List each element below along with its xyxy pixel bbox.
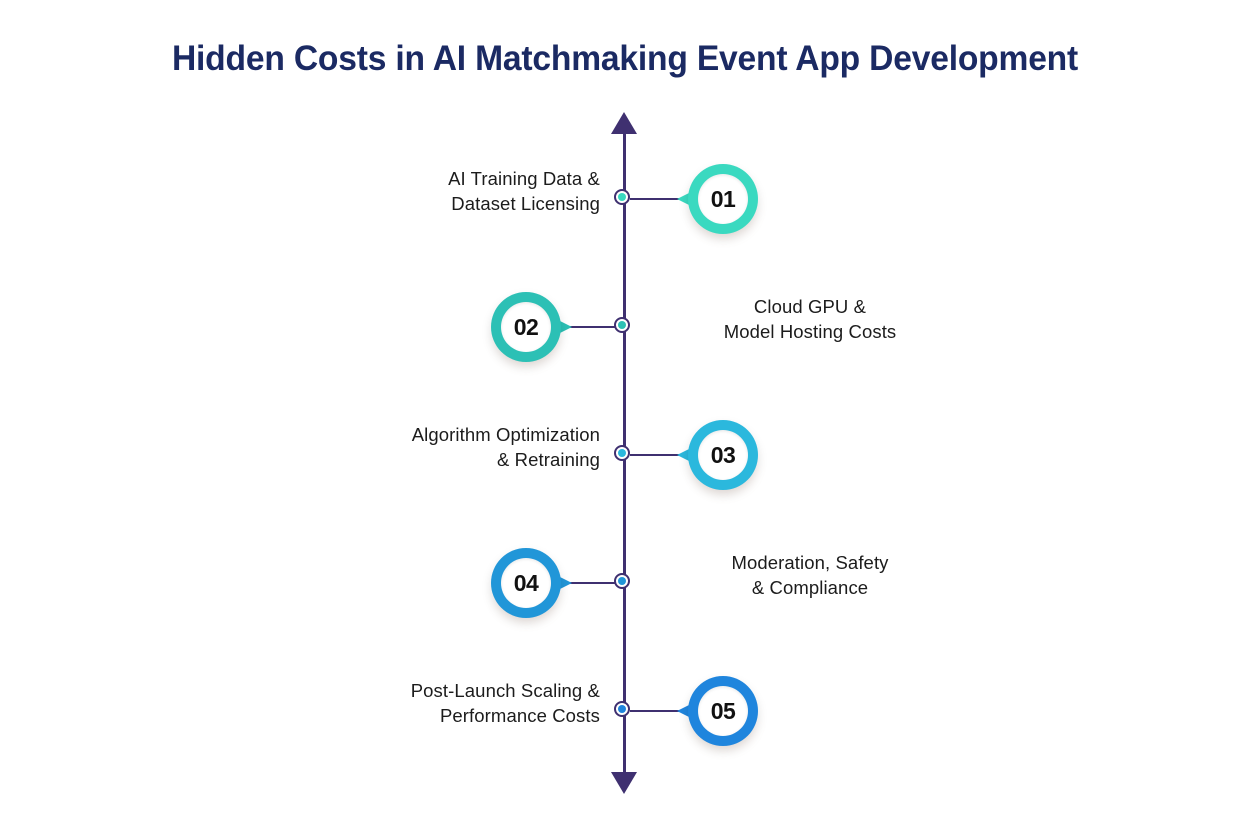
badge-ring: 04 <box>491 548 561 618</box>
badge-ring: 01 <box>688 164 758 234</box>
timeline-node-dot <box>614 317 630 333</box>
timeline-item-label: Cloud GPU & Model Hosting Costs <box>645 295 975 345</box>
timeline-item-label: Moderation, Safety & Compliance <box>645 551 975 601</box>
badge-number: 03 <box>711 444 736 467</box>
badge-inner-circle: 01 <box>698 174 748 224</box>
badge-number: 05 <box>711 700 736 723</box>
infographic-canvas: Hidden Costs in AI Matchmaking Event App… <box>0 0 1250 833</box>
timeline-node-dot <box>614 189 630 205</box>
timeline-badge-03[interactable]: 03 <box>680 412 766 498</box>
badge-inner-circle: 03 <box>698 430 748 480</box>
timeline-node-dot-core <box>618 321 626 329</box>
timeline-badge-04[interactable]: 04 <box>483 540 569 626</box>
badge-ring: 03 <box>688 420 758 490</box>
timeline-badge-02[interactable]: 02 <box>483 284 569 370</box>
badge-ring: 02 <box>491 292 561 362</box>
timeline-node-dot <box>614 573 630 589</box>
badge-inner-circle: 05 <box>698 686 748 736</box>
timeline-node-dot-core <box>618 193 626 201</box>
timeline-arrow-down-icon <box>611 772 637 794</box>
timeline-item-label: Post-Launch Scaling & Performance Costs <box>411 679 600 729</box>
page-title: Hidden Costs in AI Matchmaking Event App… <box>25 38 1225 80</box>
timeline-item-label: Algorithm Optimization & Retraining <box>412 423 600 473</box>
timeline-node-dot-core <box>618 705 626 713</box>
badge-number: 01 <box>711 188 736 211</box>
timeline-badge-01[interactable]: 01 <box>680 156 766 242</box>
badge-number: 04 <box>514 572 539 595</box>
timeline-node-dot-core <box>618 449 626 457</box>
badge-number: 02 <box>514 316 539 339</box>
badge-inner-circle: 04 <box>501 558 551 608</box>
timeline-arrow-up-icon <box>611 112 637 134</box>
badge-ring: 05 <box>688 676 758 746</box>
timeline-node-dot <box>614 445 630 461</box>
timeline-item-label: AI Training Data & Dataset Licensing <box>448 167 600 217</box>
timeline-node-dot-core <box>618 577 626 585</box>
timeline-node-dot <box>614 701 630 717</box>
badge-inner-circle: 02 <box>501 302 551 352</box>
timeline-badge-05[interactable]: 05 <box>680 668 766 754</box>
